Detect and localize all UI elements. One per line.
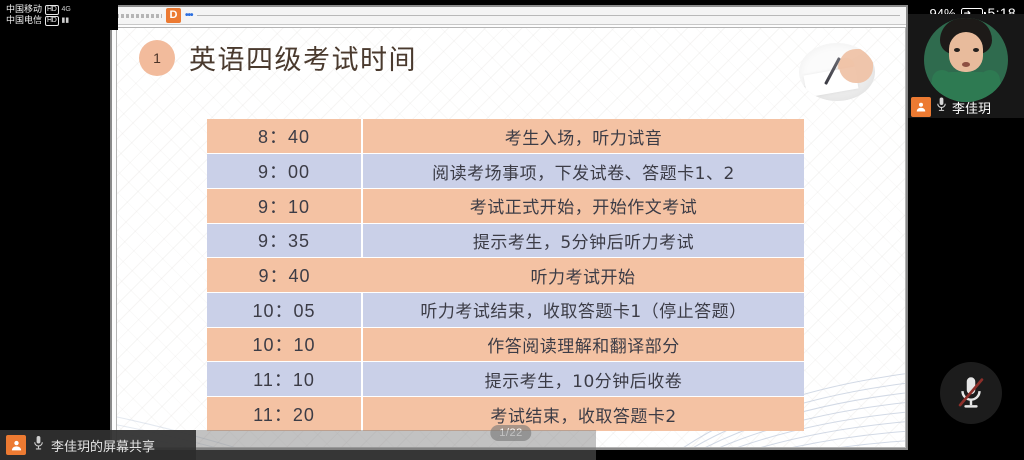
sim2-row: 中国电信 HD ▮▮ (6, 15, 118, 26)
microphone-icon (935, 97, 948, 117)
schedule-time-cell: 9：40 (207, 258, 362, 293)
schedule-time-cell: 11：20 (207, 397, 362, 432)
schedule-time-cell: 9：35 (207, 223, 362, 258)
table-row: 10：05听力考试结束，收取答题卡1（停止答题） (207, 292, 804, 327)
schedule-event-cell: 提示考生，10分钟后收卷 (362, 362, 804, 397)
table-row: 10：10作答阅读理解和翻译部分 (207, 327, 804, 362)
sim2-signal-icon: ▮▮ (62, 15, 70, 26)
status-bar-carriers: 中国移动 HD 4G 中国电信 HD ▮▮ (0, 0, 118, 30)
app-toolbar[interactable]: D ••• (112, 7, 906, 25)
sim1-network-label: 4G (62, 4, 71, 15)
participant-video-tile[interactable]: 李佳玥 (908, 14, 1024, 118)
sim1-carrier-label: 中国移动 (6, 4, 42, 15)
schedule-time-cell: 8：40 (207, 119, 362, 154)
screen-share-label: 李佳玥的屏幕共享 (51, 436, 155, 455)
schedule-event-cell: 考试结束，收取答题卡2 (362, 397, 804, 432)
avatar (924, 18, 1008, 102)
avatar-eye-left-shape (954, 48, 960, 52)
document-icon[interactable]: D (166, 8, 181, 23)
schedule-event-cell: 提示考生，5分钟后听力考试 (362, 223, 804, 258)
decorative-photo (799, 43, 875, 101)
sim1-row: 中国移动 HD 4G (6, 4, 118, 15)
toolbar-menu-stub (116, 14, 162, 18)
schedule-time-cell: 10：10 (207, 327, 362, 362)
avatar-hand-right-shape (980, 70, 1000, 94)
avatar-eye-right-shape (973, 48, 979, 52)
table-row: 9：35提示考生，5分钟后听力考试 (207, 223, 804, 258)
schedule-event-cell: 考试正式开始，开始作文考试 (362, 188, 804, 223)
schedule-event-cell: 阅读考场事项，下发试卷、答题卡1、2 (362, 154, 804, 189)
schedule-time-cell: 9：10 (207, 188, 362, 223)
table-row: 9：10考试正式开始，开始作文考试 (207, 188, 804, 223)
sim2-carrier-label: 中国电信 (6, 15, 42, 26)
table-row: 11：10提示考生，10分钟后收卷 (207, 362, 804, 397)
toolbar-overflow-icon[interactable]: ••• (185, 10, 193, 21)
shared-screen-area: D ••• (110, 5, 908, 450)
slide-number-badge: 1 (139, 40, 175, 76)
screen-root: D ••• (0, 0, 1024, 460)
exam-schedule-table: 8：40考生入场，听力试音9：00阅读考场事项，下发试卷、答题卡1、29：10考… (207, 119, 804, 431)
participant-name-label: 李佳玥 (952, 98, 991, 117)
toolbar-divider (197, 15, 900, 16)
schedule-event-cell: 作答阅读理解和翻译部分 (362, 327, 804, 362)
avatar-hand-left-shape (932, 70, 952, 94)
slide-canvas[interactable]: 1 英语四级考试时间 8：40考生入场，听力试音9：00阅读考场事项，下发试卷、… (116, 27, 906, 448)
microphone-muted-icon (956, 376, 986, 410)
photo-hand-shape (839, 49, 873, 83)
left-black-rail (0, 30, 110, 430)
participant-footer: 李佳玥 (908, 96, 1024, 118)
sim1-hd-badge: HD (45, 5, 59, 15)
presentation-app-frame: D ••• (110, 5, 908, 450)
schedule-event-cell: 听力考试开始 (362, 258, 804, 293)
user-icon (6, 435, 26, 455)
slide-header: 1 英语四级考试时间 (139, 38, 417, 77)
microphone-icon (32, 435, 45, 456)
page-title: 英语四级考试时间 (189, 38, 417, 77)
sim2-hd-badge: HD (45, 16, 59, 26)
schedule-event-cell: 考生入场，听力试音 (362, 119, 804, 154)
share-bar-extension (196, 430, 596, 460)
table-row: 9：00阅读考场事项，下发试卷、答题卡1、2 (207, 154, 804, 189)
schedule-time-cell: 10：05 (207, 292, 362, 327)
avatar-mouth-shape (962, 62, 970, 67)
table-row: 8：40考生入场，听力试音 (207, 119, 804, 154)
microphone-muted-button[interactable] (940, 362, 1002, 424)
exam-schedule-body: 8：40考生入场，听力试音9：00阅读考场事项，下发试卷、答题卡1、29：10考… (207, 119, 804, 431)
user-icon (911, 97, 931, 117)
table-row: 9：40听力考试开始 (207, 258, 804, 293)
schedule-time-cell: 9：00 (207, 154, 362, 189)
screen-share-status-bar[interactable]: 李佳玥的屏幕共享 (0, 430, 196, 460)
schedule-event-cell: 听力考试结束，收取答题卡1（停止答题） (362, 292, 804, 327)
schedule-time-cell: 11：10 (207, 362, 362, 397)
